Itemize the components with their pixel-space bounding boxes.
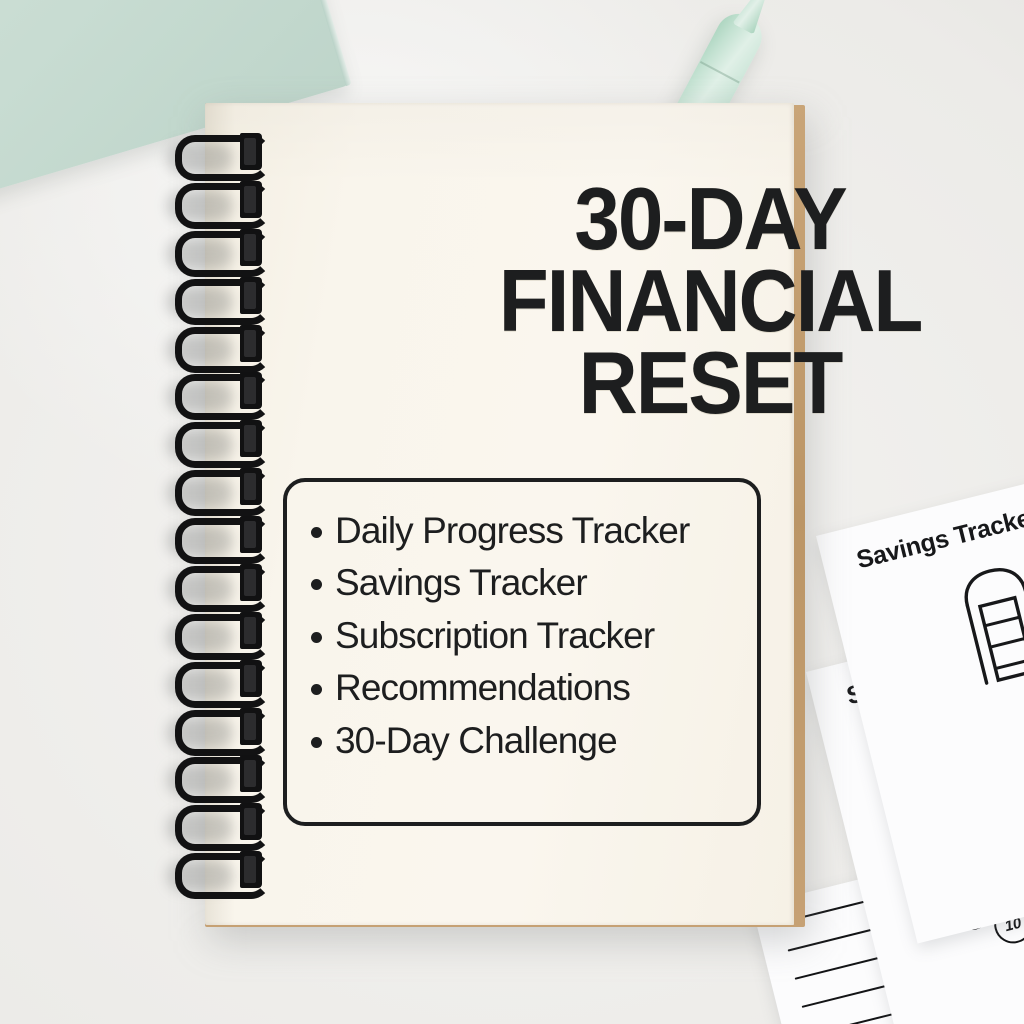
bullet-icon <box>311 579 322 590</box>
spiral-coil <box>163 229 283 271</box>
flatlay-scene: 23 9 Savings Tracker 513463789121018987 … <box>0 0 1024 1024</box>
coil-punch-highlight <box>244 186 256 213</box>
feature-item-label: 30-Day Challenge <box>335 720 617 761</box>
feature-item: Recommendations <box>311 667 739 708</box>
spiral-notebook[interactable]: 30-DAY FINANCIAL RESET Daily Progress Tr… <box>205 103 807 927</box>
spiral-coil <box>163 516 283 558</box>
spiral-coil <box>163 181 283 223</box>
feature-item-label: Recommendations <box>335 667 630 708</box>
bullet-icon <box>311 684 322 695</box>
title-line-2: FINANCIAL <box>478 260 943 342</box>
spiral-coil <box>163 851 283 893</box>
feature-item: Daily Progress Tracker <box>311 510 739 551</box>
spiral-coil <box>163 133 283 175</box>
feature-item: 30-Day Challenge <box>311 720 739 761</box>
feature-item-label: Daily Progress Tracker <box>335 510 689 551</box>
spiral-coil <box>163 277 283 319</box>
coil-punch-highlight <box>244 760 256 787</box>
coil-punch-highlight <box>244 138 256 165</box>
coil-punch-highlight <box>244 425 256 452</box>
coil-punch-highlight <box>244 330 256 357</box>
coil-punch-highlight <box>244 521 256 548</box>
bullet-icon <box>311 737 322 748</box>
coil-punch-highlight <box>244 665 256 692</box>
feature-item-label: Subscription Tracker <box>335 615 654 656</box>
spiral-coil <box>163 420 283 462</box>
coil-punch-highlight <box>244 856 256 883</box>
coil-punch-highlight <box>244 808 256 835</box>
feature-item-label: Savings Tracker <box>335 562 587 603</box>
spiral-coil <box>163 564 283 606</box>
coil-punch-highlight <box>244 282 256 309</box>
bullet-icon <box>311 632 322 643</box>
spiral-coil <box>163 803 283 845</box>
title-line-1: 30-DAY <box>478 178 943 260</box>
coil-punch-highlight <box>244 473 256 500</box>
spiral-binding <box>163 133 283 899</box>
spiral-coil <box>163 755 283 797</box>
coil-punch-highlight <box>244 713 256 740</box>
spiral-coil <box>163 325 283 367</box>
spiral-coil <box>163 708 283 750</box>
coil-punch-highlight <box>244 617 256 644</box>
feature-item: Subscription Tracker <box>311 615 739 656</box>
title-line-3: RESET <box>478 342 943 424</box>
spiral-coil <box>163 660 283 702</box>
feature-list-box: Daily Progress TrackerSavings TrackerSub… <box>283 478 761 826</box>
savings-jar-icon <box>941 550 1024 690</box>
coil-punch-highlight <box>244 234 256 261</box>
spiral-coil <box>163 372 283 414</box>
spiral-coil <box>163 612 283 654</box>
coil-punch-highlight <box>244 569 256 596</box>
coil-punch-highlight <box>244 377 256 404</box>
page-title: 30-DAY FINANCIAL RESET <box>460 178 960 423</box>
bullet-icon <box>311 527 322 538</box>
spiral-coil <box>163 468 283 510</box>
feature-item: Savings Tracker <box>311 562 739 603</box>
